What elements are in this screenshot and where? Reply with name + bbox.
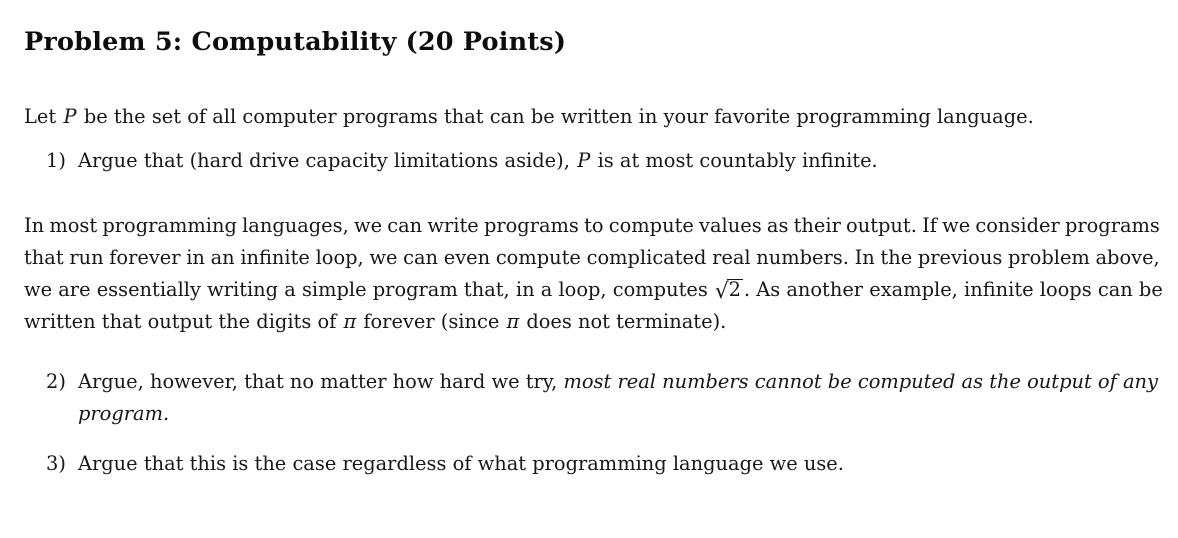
item1-text-before-variable: Argue that (hard drive capacity limitati… xyxy=(78,149,576,172)
word: we xyxy=(354,210,382,242)
paragraph-line-3: we are essentially writing a simple prog… xyxy=(24,274,1160,306)
word: complicated xyxy=(587,242,707,274)
word: infinite xyxy=(240,242,310,274)
word: loop, xyxy=(316,242,364,274)
math-variable-p: P xyxy=(576,149,591,172)
word: the xyxy=(880,242,912,274)
word: as xyxy=(767,210,789,242)
paragraph-line-1: Inmostprogramminglanguages,wecanwritepro… xyxy=(24,210,1160,242)
word: languages, xyxy=(242,210,349,242)
word: In xyxy=(855,242,875,274)
math-symbol-pi: π xyxy=(505,310,520,333)
word: their xyxy=(794,210,841,242)
list-item-body-3: Argue that this is the case regardless o… xyxy=(78,448,1160,480)
word: run xyxy=(69,242,103,274)
radicand-value: 2 xyxy=(727,279,742,301)
math-variable-p: P xyxy=(62,105,77,128)
list-item-body-2: Argue, however, that no matter how hard … xyxy=(78,366,1160,430)
list-item-marker-1: 1) xyxy=(46,145,76,177)
word: forever xyxy=(109,242,180,274)
paragraph-line-4: written that output the digits of π fore… xyxy=(24,306,1160,338)
word: compute xyxy=(496,242,581,274)
word: an xyxy=(211,242,235,274)
line4-part-b: forever (since xyxy=(357,310,505,333)
word: above, xyxy=(1095,242,1159,274)
line4-part-c: does not terminate). xyxy=(520,310,726,333)
math-symbol-pi: π xyxy=(342,310,357,333)
word: problem xyxy=(1008,242,1090,274)
list-item-marker-3: 3) xyxy=(46,448,76,480)
word: If xyxy=(922,210,937,242)
list-item-marker-2: 2) xyxy=(46,366,76,398)
word: we xyxy=(369,242,397,274)
lead-text-before-variable: Let xyxy=(24,105,62,128)
word: can xyxy=(387,210,422,242)
item2-emphasis-line-2: program. xyxy=(78,398,1160,430)
word: we xyxy=(942,210,970,242)
document-page: Problem 5: Computability (20 Points) Let… xyxy=(0,0,1178,538)
word: can xyxy=(403,242,438,274)
item1-text-after-variable: is at most countably infinite. xyxy=(591,149,877,172)
list-item-body-1: Argue that (hard drive capacity limitati… xyxy=(78,145,1160,177)
word: previous xyxy=(918,242,1002,274)
item2-line-1: Argue, however, that no matter how hard … xyxy=(78,366,1160,398)
word: to xyxy=(584,210,603,242)
middle-paragraph: Inmostprogramminglanguages,wecanwritepro… xyxy=(24,210,1160,338)
item2-emphasis-line-1: most real numbers cannot be computed as … xyxy=(564,370,1158,393)
word: programs xyxy=(484,210,579,242)
line4-part-a: written that output the digits of xyxy=(24,310,342,333)
word: write xyxy=(427,210,478,242)
list-item: 1) Argue that (hard drive capacity limit… xyxy=(24,145,1160,177)
page-title: Problem 5: Computability (20 Points) xyxy=(24,26,1160,58)
word: values xyxy=(699,210,762,242)
lead-paragraph: Let P be the set of all computer program… xyxy=(24,101,1160,133)
word: consider xyxy=(975,210,1059,242)
item2-plain-prefix: Argue, however, that no matter how hard … xyxy=(78,370,564,393)
word: in xyxy=(186,242,205,274)
word: output. xyxy=(846,210,917,242)
word: numbers. xyxy=(756,242,849,274)
list-item: 3) Argue that this is the case regardles… xyxy=(24,448,1160,480)
word: compute xyxy=(609,210,694,242)
word: that xyxy=(24,242,64,274)
word: In xyxy=(24,210,44,242)
word: real xyxy=(712,242,751,274)
paragraph-line-2: thatrunforeverinaninfiniteloop,wecaneven… xyxy=(24,242,1160,274)
word: programming xyxy=(102,210,236,242)
line3-prefix: we are essentially writing a simple prog… xyxy=(24,278,714,301)
list-item: 2) Argue, however, that no matter how ha… xyxy=(24,366,1160,430)
sqrt-two-expression: √2 xyxy=(714,274,744,306)
word: even xyxy=(444,242,490,274)
line3-suffix: . As another example, infinite loops can… xyxy=(744,278,1163,301)
lead-text-after-variable: be the set of all computer programs that… xyxy=(78,105,1034,128)
word: most xyxy=(49,210,97,242)
word: programs xyxy=(1065,210,1160,242)
